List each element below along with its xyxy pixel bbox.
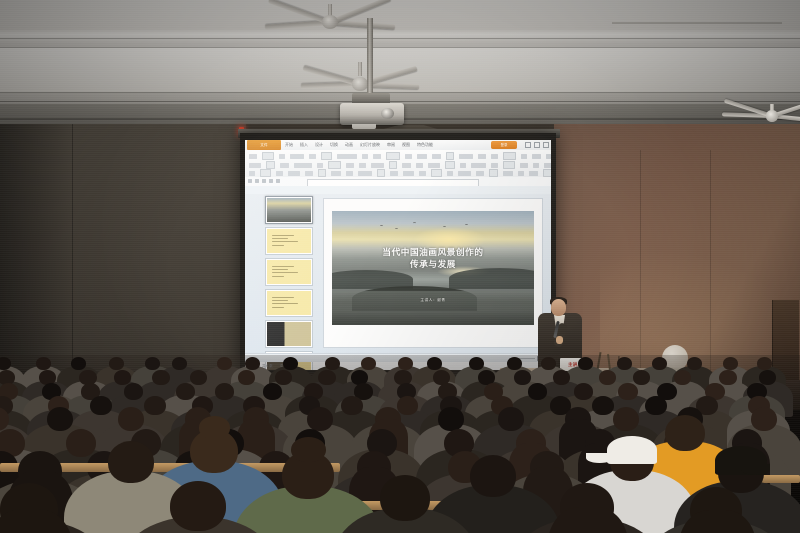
ribbon-control[interactable]: [337, 154, 357, 159]
ribbon-tab-8[interactable]: 特色功能: [417, 141, 433, 149]
audience-head: [238, 370, 255, 385]
ribbon-row-middle[interactable]: [249, 161, 551, 169]
ribbon-row-top[interactable]: [249, 152, 551, 160]
audience-head: [325, 357, 340, 370]
ribbon-tab-1[interactable]: 插入: [300, 141, 308, 149]
ribbon-control[interactable]: [459, 154, 473, 159]
ribbon-control[interactable]: [346, 171, 353, 176]
editor-body: 大纲 123456: [245, 186, 551, 362]
audience-head: [438, 407, 464, 431]
slide-thumbnail-1[interactable]: 1: [265, 196, 313, 224]
audience-head: [618, 383, 637, 400]
ribbon-control[interactable]: [503, 171, 513, 176]
audience-head: [170, 481, 226, 531]
ribbon-control[interactable]: [294, 163, 312, 168]
quick-access-icons[interactable]: [248, 179, 280, 183]
audience-head: [578, 357, 593, 370]
left-wall-shadow: [0, 124, 72, 394]
ribbon-control[interactable]: [471, 163, 486, 168]
ribbon-control[interactable]: [317, 163, 323, 168]
projection-screen: 文件 开始插入设计切换动画幻灯片放映审阅视图特色功能 登录: [245, 140, 551, 370]
ribbon-control[interactable]: [318, 169, 326, 177]
slide-bird: [465, 224, 468, 226]
ribbon-control[interactable]: [262, 152, 274, 160]
thumbnail-text-line: [272, 241, 298, 242]
slide-bird: [380, 225, 383, 227]
slide-canvas[interactable]: 当代中国油画风景创作的 传承与发展 主讲人：谢青: [323, 198, 543, 348]
audience-head: [633, 370, 650, 385]
audience-head: [470, 455, 516, 497]
ribbon-control[interactable]: [377, 169, 385, 177]
slide-thumbnail-3[interactable]: 3: [265, 258, 313, 286]
audience-head: [145, 357, 160, 370]
ribbon-control[interactable]: [266, 161, 275, 169]
left-wall-seam: [72, 124, 73, 382]
ribbon-control[interactable]: [478, 154, 486, 159]
window-controls[interactable]: [525, 142, 549, 148]
ribbon-control[interactable]: [309, 154, 316, 159]
ribbon-control[interactable]: [321, 152, 332, 160]
ceiling-seam: [0, 38, 800, 39]
audience-head: [341, 396, 363, 415]
slide-bird: [395, 228, 398, 230]
slide-subtitle: 主讲人：谢青: [332, 298, 534, 303]
ribbon-tab-6[interactable]: 审阅: [387, 141, 395, 149]
save-icon[interactable]: [248, 179, 252, 183]
ribbon-control[interactable]: [447, 171, 453, 176]
ribbon-control[interactable]: [533, 163, 539, 168]
audience-head: [507, 357, 522, 370]
slide-title-line-1: 当代中国油画风景创作的: [332, 246, 534, 258]
audience-head: [751, 407, 777, 431]
audience-head: [90, 396, 112, 415]
ribbon-control[interactable]: [389, 161, 397, 169]
audience-head: [498, 407, 524, 431]
ribbon-control[interactable]: [290, 154, 304, 159]
thumbnail-text-line: [272, 272, 298, 273]
ribbon-control[interactable]: [431, 169, 442, 177]
ribbon-control[interactable]: [419, 171, 426, 176]
ribbon-control[interactable]: [543, 169, 551, 177]
audience-head: [118, 407, 144, 431]
audience-head: [109, 357, 124, 370]
projector-body: [340, 103, 404, 125]
slide-hill: [449, 268, 534, 289]
audience-head: [674, 370, 691, 385]
slide-water: [332, 291, 534, 325]
audience-head: [144, 396, 166, 415]
audience-head: [307, 407, 333, 431]
audience-head: [190, 370, 207, 385]
audience-head: [574, 383, 593, 400]
ribbon[interactable]: [245, 150, 551, 178]
thumbnail-image: [267, 322, 311, 346]
ribbon-control[interactable]: [280, 163, 289, 168]
audience-head: [124, 383, 143, 400]
thumbnail-slide-body: [267, 260, 311, 284]
ribbon-tab-5[interactable]: 幻灯片放映: [360, 141, 380, 149]
audience-head: [380, 475, 430, 521]
ribbon-control[interactable]: [460, 163, 466, 168]
ribbon-control[interactable]: [276, 171, 283, 176]
audience-head: [71, 357, 86, 370]
ribbon-control[interactable]: [260, 169, 271, 177]
powerpoint-window: 文件 开始插入设计切换动画幻灯片放映审阅视图特色功能 登录: [245, 140, 551, 370]
ribbon-control[interactable]: [328, 161, 341, 169]
new-slide-icon[interactable]: [276, 179, 280, 183]
ceiling-seam: [0, 92, 800, 93]
ribbon-control[interactable]: [476, 171, 484, 176]
ribbon-row-bottom[interactable]: [249, 169, 551, 177]
audience-head: [687, 357, 702, 370]
slide-title-line-2: 传承与发展: [332, 258, 534, 270]
audience-head: [592, 396, 614, 415]
ribbon-control[interactable]: [446, 152, 454, 160]
sign-in-button[interactable]: 登录: [491, 141, 517, 149]
thumbnail-text-line: [272, 235, 294, 236]
audience-head: [514, 370, 531, 385]
print-icon[interactable]: [269, 179, 273, 183]
cap-icon: [607, 436, 656, 464]
ribbon-control[interactable]: [346, 163, 354, 168]
thumbnail-text-line: [272, 303, 298, 304]
ribbon-tab-4[interactable]: 动画: [345, 141, 353, 149]
close-icon[interactable]: [543, 142, 549, 148]
speaker-hand: [556, 336, 563, 344]
audience-head: [719, 370, 736, 385]
fan-rod: [358, 62, 362, 76]
thumbnail-text-line: [272, 276, 284, 277]
ribbon-control[interactable]: [405, 154, 412, 159]
hair-bun: [199, 416, 231, 439]
redo-icon[interactable]: [262, 179, 266, 183]
ribbon-tab-7[interactable]: 视图: [402, 141, 410, 149]
ribbon-control[interactable]: [432, 154, 441, 159]
ribbon-control[interactable]: [544, 163, 551, 168]
audience-head: [108, 441, 154, 483]
audience-head: [469, 357, 484, 370]
cap-brim: [741, 464, 770, 475]
ribbon-control[interactable]: [491, 154, 498, 159]
ribbon-control[interactable]: [491, 163, 498, 168]
file-tab-label: 文件: [249, 141, 280, 150]
audience-head: [275, 370, 292, 385]
slide-thumbnail-5[interactable]: 5: [265, 320, 313, 348]
ribbon-control[interactable]: [249, 163, 261, 168]
thumbnail-slide-body: [267, 229, 311, 253]
audience-head: [47, 407, 73, 431]
fan-hub: [352, 77, 367, 90]
slide-thumbnail-2[interactable]: 2: [265, 227, 313, 255]
ribbon-control[interactable]: [390, 171, 398, 176]
ribbon-control[interactable]: [458, 171, 471, 176]
ribbon-tab-3[interactable]: 切换: [330, 141, 338, 149]
ceiling-vent-line: [612, 22, 782, 24]
ribbon-tab-2[interactable]: 设计: [315, 141, 323, 149]
slide-thumbnail-panel[interactable]: 123456: [265, 196, 313, 360]
ribbon-control[interactable]: [371, 163, 384, 168]
audience-head: [541, 357, 556, 370]
ribbon-control[interactable]: [503, 152, 516, 160]
audience-head: [617, 357, 632, 370]
thumbnail-image: [267, 198, 311, 222]
thumbnail-slide-body: [267, 291, 311, 315]
audience-head: [528, 383, 547, 400]
file-tab[interactable]: 文件: [247, 140, 281, 150]
audience-head: [553, 370, 570, 385]
ribbon-control[interactable]: [503, 161, 515, 169]
undo-icon[interactable]: [255, 179, 259, 183]
audience-head: [599, 370, 616, 385]
ribbon-control[interactable]: [532, 154, 541, 159]
ribbon-control[interactable]: [373, 154, 381, 159]
ribbon-control[interactable]: [521, 154, 527, 159]
ceiling-seam: [0, 101, 800, 102]
ribbon-control[interactable]: [546, 154, 551, 159]
thumbnail-text-line: [272, 297, 294, 298]
ribbon-tab-0[interactable]: 开始: [285, 141, 293, 149]
audience-head: [36, 357, 51, 370]
audience-head: [723, 357, 738, 370]
ribbon-control[interactable]: [403, 171, 414, 176]
speaker-head: [551, 299, 566, 316]
audience-head: [759, 370, 776, 385]
audience-head: [397, 396, 419, 415]
slide-1: 当代中国油画风景创作的 传承与发展 主讲人：谢青: [332, 211, 534, 325]
audience-head: [245, 357, 260, 370]
audience-head: [215, 383, 234, 400]
audience-head: [613, 407, 639, 431]
ribbon-control[interactable]: [445, 161, 455, 169]
audience-head: [152, 370, 169, 385]
projector-pole: [367, 18, 373, 96]
audience-head: [361, 357, 376, 370]
thumbnail-text-line: [272, 245, 284, 246]
audience-head: [318, 370, 335, 385]
thumbnail-text-line: [272, 269, 288, 270]
ribbon-control[interactable]: [529, 171, 538, 176]
ribbon-control[interactable]: [249, 154, 257, 159]
slide-thumbnail-4[interactable]: 4: [265, 289, 313, 317]
outline-tab-bar[interactable]: 大纲: [245, 186, 551, 194]
ceiling-seam: [0, 47, 800, 48]
ribbon-control[interactable]: [288, 171, 300, 176]
audience-head: [66, 429, 96, 457]
audience-head: [652, 357, 667, 370]
audience-area: ПЛТК: [0, 355, 800, 533]
audience-head: [172, 357, 187, 370]
ribbon-control[interactable]: [359, 163, 366, 168]
audience-head: [263, 383, 282, 400]
ribbon-tab-list[interactable]: 开始插入设计切换动画幻灯片放映审阅视图特色功能: [285, 141, 433, 149]
ribbon-control[interactable]: [279, 154, 285, 159]
audience-head: [398, 357, 413, 370]
audience-head: [217, 357, 232, 370]
hair-bun: [291, 437, 325, 462]
ribbon-control[interactable]: [362, 154, 368, 159]
ribbon-control[interactable]: [386, 152, 400, 160]
thumbnail-text-line: [272, 238, 288, 239]
thumbnail-text-line: [272, 300, 288, 301]
ribbon-control[interactable]: [305, 171, 313, 176]
ribbon-control[interactable]: [417, 154, 427, 159]
app-title-bar: 文件 开始插入设计切换动画幻灯片放映审阅视图特色功能 登录: [245, 140, 551, 150]
fan-hub: [766, 110, 779, 121]
audience-head: [665, 415, 705, 451]
ribbon-control[interactable]: [489, 169, 498, 177]
maximize-icon[interactable]: [534, 142, 540, 148]
slide-title: 当代中国油画风景创作的 传承与发展: [332, 246, 534, 270]
ribbon-control[interactable]: [249, 171, 255, 176]
audience-head: [283, 357, 298, 370]
ribbon-control[interactable]: [358, 171, 372, 176]
thumbnail-text-line: [272, 307, 284, 308]
projector-lens-icon: [381, 108, 394, 119]
ribbon-control[interactable]: [416, 163, 423, 168]
thumbnail-text-line: [272, 266, 294, 267]
ribbon-control[interactable]: [331, 171, 341, 176]
audience-head: [176, 383, 195, 400]
lecture-hall-photo: 文件 开始插入设计切换动画幻灯片放映审阅视图特色功能 登录: [0, 0, 800, 533]
audience-head: [757, 357, 772, 370]
minimize-icon[interactable]: [525, 142, 531, 148]
ribbon-control[interactable]: [520, 163, 528, 168]
ribbon-control[interactable]: [428, 163, 440, 168]
slide-bird: [413, 222, 416, 224]
ribbon-control[interactable]: [518, 171, 524, 176]
ribbon-control[interactable]: [402, 163, 411, 168]
sign-in-label: 登录: [491, 141, 517, 149]
audience-head: [114, 370, 131, 385]
audience-head: [645, 396, 667, 415]
audience-head: [427, 357, 442, 370]
